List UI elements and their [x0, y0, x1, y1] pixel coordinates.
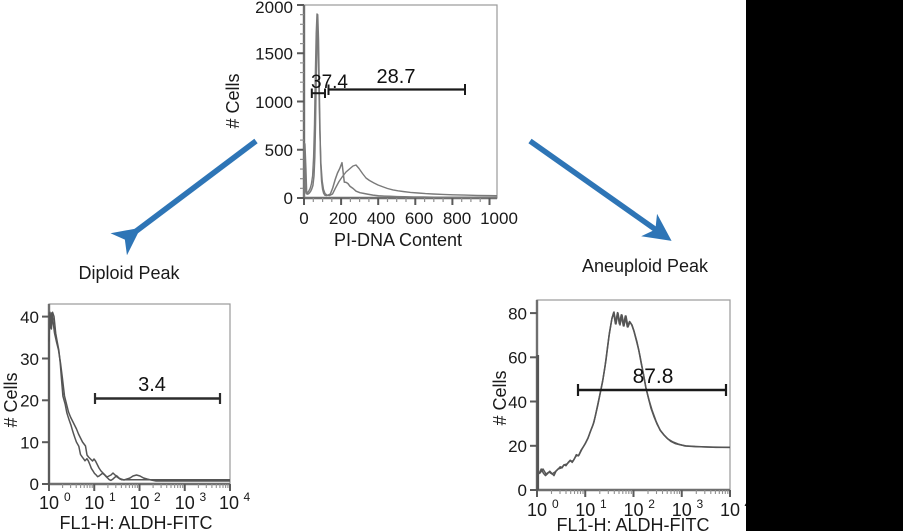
x-tick-mantissa-3: 10 — [175, 493, 195, 513]
x-tick-label-10e0: 10 0 — [527, 497, 559, 520]
x-tick-label-400: 400 — [367, 209, 395, 228]
diploid-panel-title: Diploid Peak — [78, 263, 180, 283]
x-axis-title: FL1-H: ALDH-FITC — [59, 513, 212, 531]
y-tick-label-2000: 2000 — [255, 0, 293, 17]
y-tick-label-20: 20 — [20, 392, 39, 411]
y-tick-label-10: 10 — [20, 434, 39, 453]
x-tick-label-800: 800 — [443, 209, 471, 228]
x-tick-exponent-4: 4 — [244, 490, 251, 504]
x-tick-label-0: 0 — [299, 209, 308, 228]
pi-dna-chart-svg: 0 500 1000 1500 2000 — [215, 0, 525, 250]
aneuploid-panel-title: Aneuploid Peak — [582, 256, 709, 276]
panel-pi-dna-content: 0 500 1000 1500 2000 — [215, 0, 525, 250]
x-tick-mantissa-0: 10 — [39, 493, 59, 513]
y-axis-title: # Cells — [223, 73, 243, 128]
x-tick-mantissa-1: 10 — [84, 493, 104, 513]
x-tick-exponent-2: 2 — [154, 490, 161, 504]
x-tick-exponent-0: 0 — [64, 490, 71, 504]
y-tick-label-80: 80 — [508, 305, 527, 324]
x-tick-label-10e1: 10 1 — [84, 490, 116, 513]
x-tick-mantissa-4: 10 — [219, 493, 239, 513]
x-tick-exponent-2: 2 — [648, 497, 655, 511]
gate-label-87-8: 87.8 — [633, 365, 674, 388]
x-axis-title: FL1-H: ALDH-FITC — [556, 515, 709, 531]
x-tick-label-10e4: 10 4 — [219, 490, 251, 513]
x-tick-label-600: 600 — [405, 209, 433, 228]
y-tick-label-0: 0 — [284, 189, 293, 208]
gate-label-28-7: 28.7 — [377, 66, 416, 88]
y-tick-label-500: 500 — [265, 141, 293, 160]
diploid-chart-svg: Diploid Peak 0 10 20 30 40 — [0, 255, 260, 531]
x-tick-mantissa-0: 10 — [527, 500, 547, 520]
arrow-to-aneuploid — [530, 141, 659, 232]
black-border-band — [746, 0, 903, 531]
plot-area-border — [304, 5, 497, 198]
x-tick-label-10e2: 10 2 — [129, 490, 161, 513]
flow-cytometry-figure: 0 500 1000 1500 2000 — [0, 0, 903, 531]
y-axis-title: # Cells — [1, 372, 21, 427]
x-tick-exponent-1: 1 — [109, 490, 116, 504]
y-tick-label-60: 60 — [508, 349, 527, 368]
y-tick-label-40: 40 — [20, 308, 39, 327]
x-tick-mantissa-4: 10 — [720, 500, 740, 520]
x-tick-label-1000: 1000 — [480, 209, 518, 228]
y-tick-label-1000: 1000 — [255, 93, 293, 112]
y-axis-title: # Cells — [490, 370, 510, 425]
x-tick-exponent-3: 3 — [200, 490, 207, 504]
x-tick-label-200: 200 — [329, 209, 357, 228]
y-tick-label-40: 40 — [508, 393, 527, 412]
y-tick-label-0: 0 — [518, 481, 527, 500]
x-tick-exponent-3: 3 — [697, 497, 704, 511]
gate-label-3-4: 3.4 — [138, 374, 166, 396]
x-tick-label-10e0: 10 0 — [39, 490, 71, 513]
x-tick-mantissa-2: 10 — [129, 493, 149, 513]
x-tick-exponent-1: 1 — [600, 497, 607, 511]
y-tick-label-0: 0 — [30, 475, 39, 494]
x-axis-title: PI-DNA Content — [334, 230, 462, 250]
y-tick-label-20: 20 — [508, 437, 527, 456]
aneuploid-chart-svg: Aneuploid Peak 0 20 40 60 80 — [490, 248, 770, 531]
panel-aneuploid-peak: Aneuploid Peak 0 20 40 60 80 — [490, 248, 770, 531]
panel-diploid-peak: Diploid Peak 0 10 20 30 40 — [0, 255, 260, 531]
y-tick-label-30: 30 — [20, 350, 39, 369]
x-tick-exponent-0: 0 — [552, 497, 559, 511]
y-tick-label-1500: 1500 — [255, 45, 293, 64]
x-tick-label-10e3: 10 3 — [175, 490, 207, 513]
